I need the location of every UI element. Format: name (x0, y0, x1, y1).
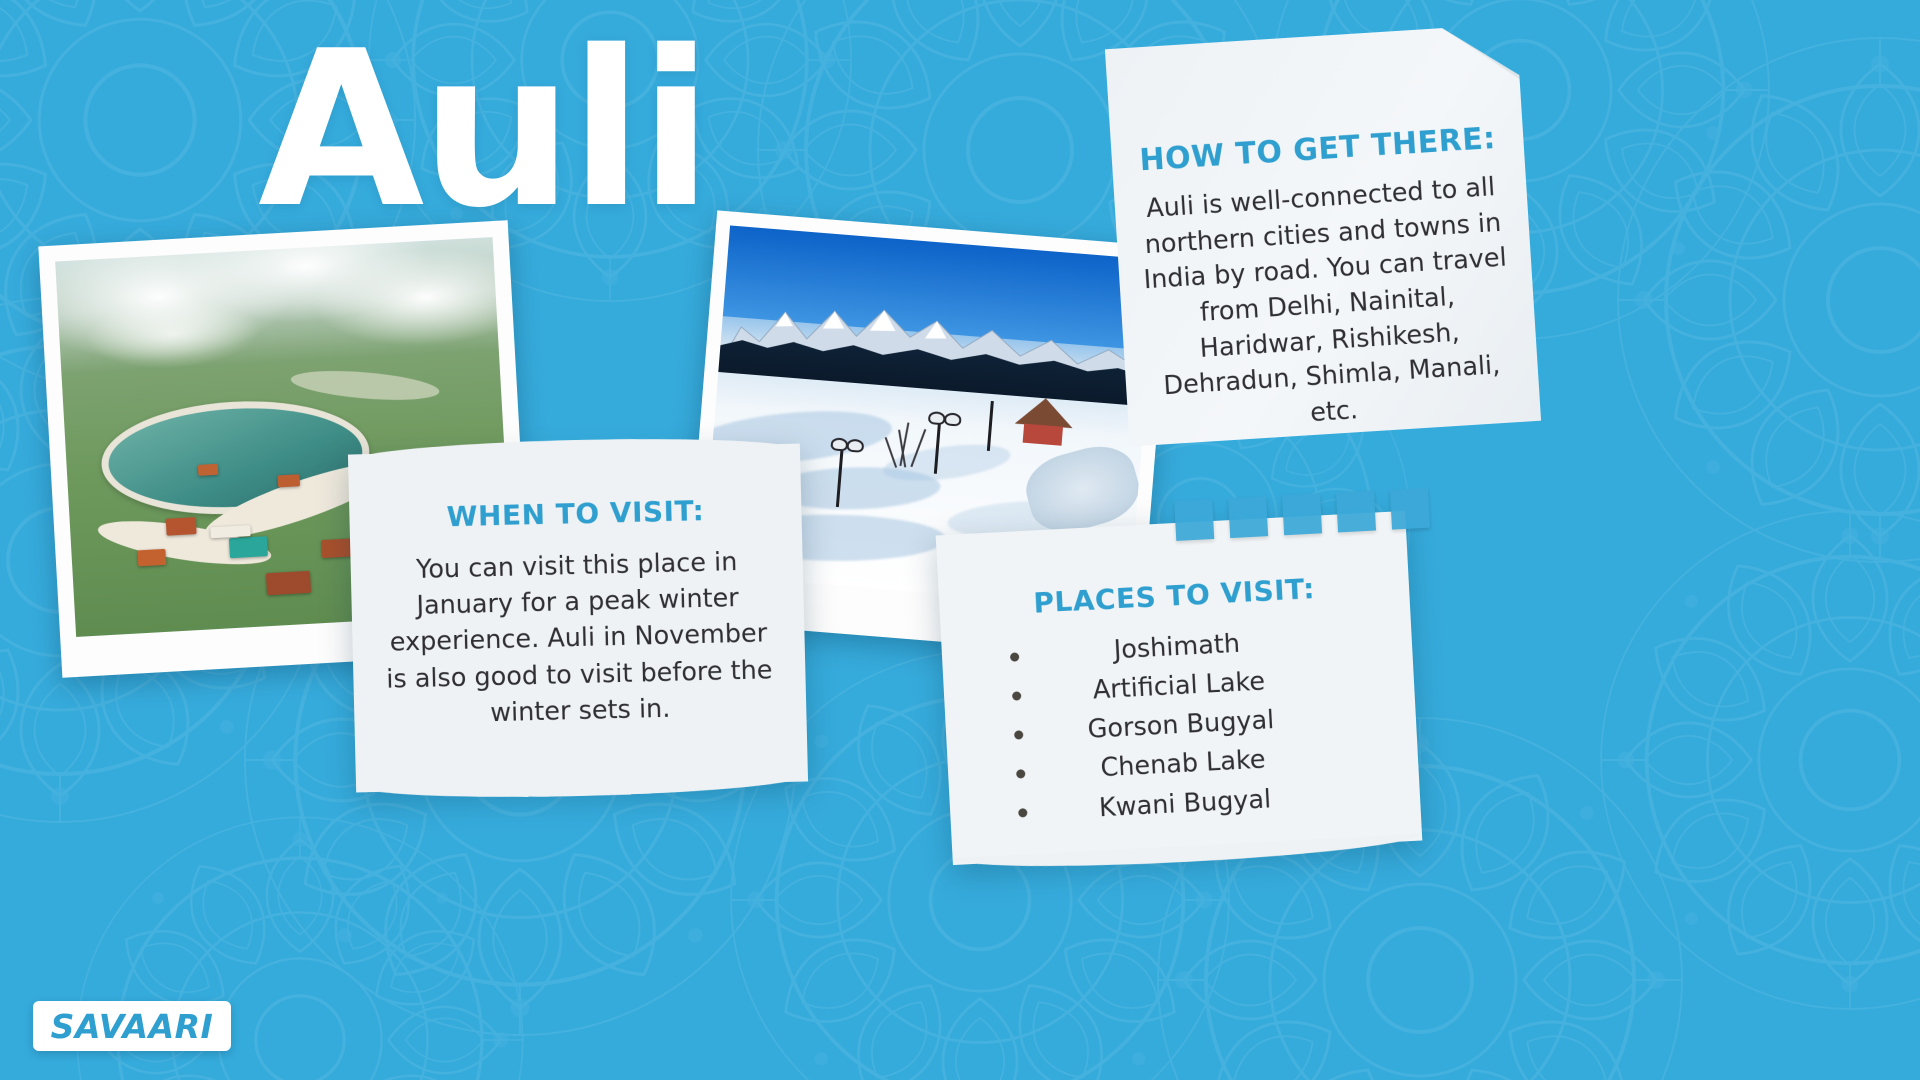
places-to-visit-title: PLACES TO VISIT: (939, 567, 1410, 625)
how-to-get-there-body: Auli is well-connected to all northern c… (1134, 169, 1521, 442)
when-to-visit-title: WHEN TO VISIT: (349, 492, 802, 536)
when-to-visit-card: WHEN TO VISIT: You can visit this place … (348, 444, 808, 793)
when-to-visit-body: You can visit this place in January for … (374, 543, 782, 734)
places-to-visit-card: PLACES TO VISIT: Joshimath Artificial La… (936, 511, 1423, 865)
savaari-logo: SAVAARI (33, 1001, 231, 1051)
how-to-get-there-card: HOW TO GET THERE: Auli is well-connected… (1105, 23, 1541, 446)
tape-strip (1390, 488, 1430, 530)
page-title: Auli (258, 22, 709, 237)
tape-strip (1228, 496, 1268, 538)
tape-strip (1174, 499, 1214, 541)
places-list: Joshimath Artificial Lake Gorson Bugyal … (941, 616, 1421, 836)
how-to-get-there-title: HOW TO GET THERE: (1111, 119, 1524, 180)
tape-strip (1336, 491, 1376, 533)
tape-strip (1282, 493, 1322, 535)
savaari-logo-text: SAVAARI (51, 1007, 214, 1046)
